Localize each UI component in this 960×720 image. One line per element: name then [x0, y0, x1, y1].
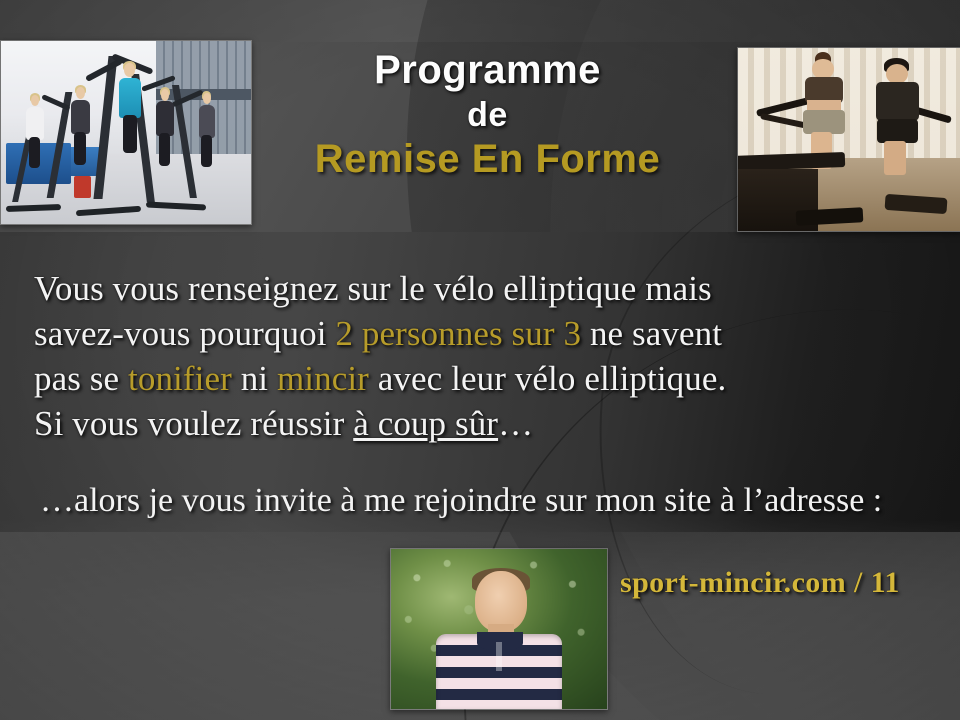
person-torso	[26, 107, 44, 140]
person-head	[76, 87, 85, 99]
slide-title: Programme de Remise En Forme	[255, 50, 720, 181]
p1-l2-highlight: 2 personnes sur 3	[335, 314, 581, 353]
paragraph-two-line-2: l’adresse :	[743, 482, 882, 519]
person-legs	[159, 133, 170, 166]
website-url[interactable]: sport-mincir.com / 11	[620, 566, 900, 600]
p1-l3-text-b: ni	[232, 359, 277, 398]
person-head	[124, 63, 135, 77]
gym-person-5	[199, 105, 215, 138]
p1-l4-underlined: à coup sûr	[353, 404, 498, 443]
paragraph-one: Vous vous renseignez sur le vélo ellipti…	[34, 266, 960, 446]
person-legs	[123, 115, 137, 153]
paragraph-one-line-3: pas se tonifier ni mincir avec leur vélo…	[34, 356, 960, 401]
gym-photo-left-content	[1, 41, 251, 224]
p1-l1-text: Vous vous renseignez sur le vélo ellipti…	[34, 269, 712, 308]
gym-photo-right	[737, 47, 960, 232]
title-line-programme: Programme	[255, 50, 720, 92]
person-legs	[74, 132, 86, 165]
person-torso	[119, 78, 142, 118]
p1-l2-text-a: savez-vous pourquoi	[34, 314, 335, 353]
man-legs	[884, 141, 906, 175]
person-head	[31, 95, 39, 106]
paragraph-one-line-4: Si vous voulez réussir à coup sûr…	[34, 401, 960, 446]
p1-l4-ellipsis: …	[498, 404, 533, 443]
man-shorts	[877, 119, 918, 143]
gym-person-main	[119, 78, 142, 118]
gym-person-2	[71, 100, 90, 135]
person-torso	[199, 105, 215, 138]
p1-l4-text-a: Si vous voulez réussir	[34, 404, 353, 443]
gym-curtains	[738, 48, 960, 161]
p1-l3-highlight-mincir: mincir	[277, 359, 369, 398]
paragraph-one-line-2: savez-vous pourquoi 2 personnes sur 3 ne…	[34, 311, 960, 356]
person-head	[203, 93, 211, 104]
paragraph-one-line-1: Vous vous renseignez sur le vélo ellipti…	[34, 266, 960, 311]
paragraph-two-line-1: …alors je vous invite à me rejoindre sur…	[40, 482, 735, 519]
person-head	[161, 89, 169, 101]
gym-man	[876, 70, 918, 169]
gym-person-4	[156, 101, 174, 136]
man-shirt	[876, 82, 918, 122]
gym-red-accent	[74, 176, 92, 198]
presenter-portrait	[390, 548, 608, 710]
p1-l2-text-b: ne savent	[581, 314, 722, 353]
presenter-placket	[496, 642, 502, 671]
title-line-remise-en-forme: Remise En Forme	[255, 139, 720, 181]
presenter-portrait-content	[391, 549, 607, 709]
person-torso	[156, 101, 174, 136]
person-legs	[201, 135, 211, 166]
p1-l3-text-a: pas se	[34, 359, 128, 398]
gym-photo-left	[0, 40, 252, 225]
person-legs	[29, 137, 40, 168]
p1-l3-text-c: avec leur vélo elliptique.	[369, 359, 726, 398]
presenter-head	[475, 571, 527, 632]
gym-person-3	[26, 107, 44, 140]
title-line-de: de	[255, 98, 720, 133]
video-slide: Programme de Remise En Forme Vous vous r…	[0, 0, 960, 720]
gym-photo-right-content	[738, 48, 960, 231]
woman-head	[812, 59, 833, 79]
woman-shorts	[803, 110, 845, 135]
person-torso	[71, 100, 90, 135]
p1-l3-highlight-tonifier: tonifier	[128, 359, 232, 398]
paragraph-two: …alors je vous invite à me rejoindre sur…	[40, 478, 960, 524]
man-head	[886, 64, 908, 84]
gym-woman	[805, 63, 843, 165]
